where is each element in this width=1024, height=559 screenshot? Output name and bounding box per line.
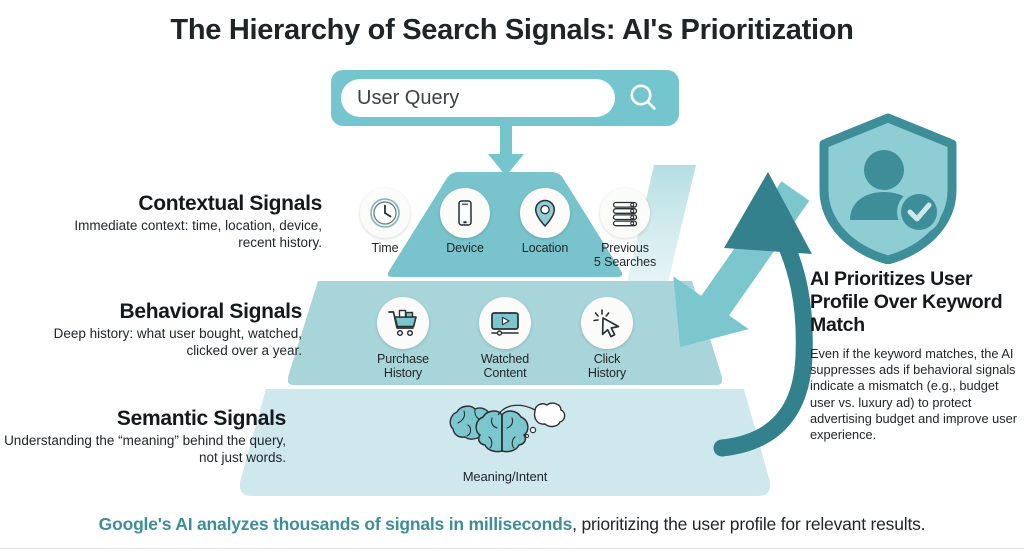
cursor-click-icon bbox=[581, 297, 633, 349]
callout-block: AI Prioritizes User Profile Over Keyword… bbox=[810, 268, 1020, 443]
footer-summary: Google's AI analyzes thousands of signal… bbox=[0, 514, 1024, 535]
signal-label: Previous 5 Searches bbox=[594, 242, 656, 269]
tier-caption-description: Understanding the “meaning” behind the q… bbox=[0, 433, 286, 466]
signal-item-device[interactable]: Device bbox=[425, 188, 505, 269]
footer-rest: , prioritizing the user profile for rele… bbox=[572, 514, 925, 534]
pyramid-tier-behavioral[interactable]: Purchase History Watched Content bbox=[288, 281, 722, 385]
shield-user-verified-icon bbox=[812, 112, 964, 264]
search-input[interactable]: User Query bbox=[341, 79, 615, 117]
tier-caption-description: Immediate context: time, location, devic… bbox=[36, 218, 322, 251]
signal-item-previous-searches[interactable]: Previous 5 Searches bbox=[585, 188, 665, 269]
signal-item-purchase-history[interactable]: Purchase History bbox=[363, 297, 443, 380]
brain-thought-icon bbox=[440, 401, 570, 468]
tier-caption-description: Deep history: what user bought, watched,… bbox=[16, 326, 302, 359]
search-icon[interactable] bbox=[615, 81, 671, 115]
signal-label: Meaning/Intent bbox=[463, 470, 548, 484]
pyramid-tier-contextual[interactable]: Time Device bbox=[335, 172, 675, 277]
tier-caption-title: Semantic Signals bbox=[0, 407, 286, 431]
shopping-cart-icon bbox=[377, 297, 429, 349]
signal-label: Click History bbox=[588, 353, 626, 380]
callout-title: AI Prioritizes User Profile Over Keyword… bbox=[810, 268, 1020, 337]
signal-item-click-history[interactable]: Click History bbox=[567, 297, 647, 380]
search-list-icon bbox=[600, 188, 650, 238]
search-bar[interactable]: User Query bbox=[331, 70, 679, 126]
signal-label: Watched Content bbox=[481, 353, 529, 380]
tier-caption-contextual: Contextual Signals Immediate context: ti… bbox=[36, 192, 322, 251]
page-title: The Hierarchy of Search Signals: AI's Pr… bbox=[0, 14, 1024, 47]
tier-items-behavioral: Purchase History Watched Content bbox=[288, 281, 722, 385]
clock-icon bbox=[360, 188, 410, 238]
tier-caption-semantic: Semantic Signals Understanding the “mean… bbox=[0, 407, 286, 466]
tier-caption-title: Behavioral Signals bbox=[16, 300, 302, 324]
tier-items-contextual: Time Device bbox=[335, 172, 675, 277]
signal-label: Location bbox=[522, 242, 568, 256]
footer-divider bbox=[0, 548, 1024, 549]
signal-item-location[interactable]: Location bbox=[505, 188, 585, 269]
signal-item-watched-content[interactable]: Watched Content bbox=[465, 297, 545, 380]
map-pin-icon bbox=[520, 188, 570, 238]
tier-caption-title: Contextual Signals bbox=[36, 192, 322, 216]
signal-item-meaning-intent[interactable]: Meaning/Intent bbox=[440, 389, 570, 484]
signal-label: Purchase History bbox=[377, 353, 429, 380]
callout-body: Even if the keyword matches, the AI supp… bbox=[810, 346, 1020, 443]
footer-highlight: Google's AI analyzes thousands of signal… bbox=[99, 514, 572, 534]
infographic-canvas: The Hierarchy of Search Signals: AI's Pr… bbox=[0, 0, 1024, 559]
video-player-icon bbox=[479, 297, 531, 349]
smartphone-icon bbox=[440, 188, 490, 238]
signal-label: Time bbox=[372, 242, 399, 256]
tier-caption-behavioral: Behavioral Signals Deep history: what us… bbox=[16, 300, 302, 359]
signal-label: Device bbox=[446, 242, 484, 256]
signal-item-time[interactable]: Time bbox=[345, 188, 425, 269]
search-input-value: User Query bbox=[357, 87, 459, 110]
